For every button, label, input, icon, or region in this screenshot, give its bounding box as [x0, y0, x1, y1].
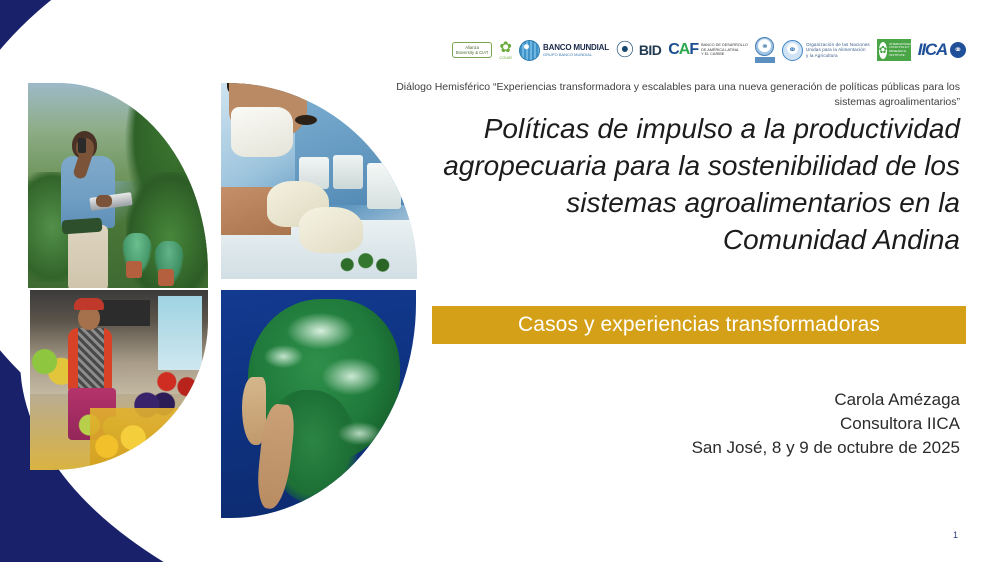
- slide-title: Políticas de impulso a la productividad …: [420, 111, 960, 259]
- caf-sublabel-line3: Y EL CARIBE: [701, 52, 748, 57]
- cgiar-leaf-icon: ✿: [499, 40, 512, 55]
- photo-layer-lab-jar-three: [367, 163, 401, 209]
- page-number: 1: [953, 530, 958, 540]
- logo-iica: IICA ⚭: [918, 35, 966, 65]
- author-block: Carola Amézaga Consultora IICA San José,…: [600, 388, 960, 460]
- ifpri-logo-icon: ✿ INTERNATIONAL FOOD POLICY RESEARCH INS…: [877, 39, 911, 61]
- author-role: Consultora IICA: [600, 412, 960, 436]
- alianza-logo-line2: Bioversity & CIAT: [456, 50, 489, 55]
- bid-swirl-icon: ⦿: [616, 41, 636, 59]
- photo-layer-market-doorway: [158, 296, 202, 370]
- fao-label: Organización de las Naciones Unidas para…: [806, 42, 870, 57]
- partner-logo-strip: Alianza Bioversity & CIAT ✿ CGIAR BANCO …: [432, 33, 966, 67]
- logo-bid: ⦿ BID: [616, 35, 661, 65]
- caf-label: CAF: [668, 41, 698, 59]
- logo-ifpri: ✿ INTERNATIONAL FOOD POLICY RESEARCH INS…: [877, 35, 911, 65]
- photo-market-vendor: [30, 290, 208, 470]
- photo-layer-farmer-hand: [96, 195, 112, 207]
- logo-fao: ⚭ Organización de las Naciones Unidas pa…: [782, 35, 870, 65]
- section-banner-label: Casos y experiencias transformadoras: [518, 313, 880, 337]
- author-name: Carola Amézaga: [600, 388, 960, 412]
- globe-icon: [519, 40, 540, 61]
- fao-emblem-icon: ⚭: [782, 40, 803, 61]
- logo-banco-mundial: BANCO MUNDIAL GRUPO BANCO MUNDIAL: [519, 35, 609, 65]
- section-banner: Casos y experiencias transformadoras: [432, 306, 966, 344]
- photo-layer-farmer-belt: [62, 218, 103, 235]
- alianza-logo-icon: Alianza Bioversity & CIAT: [452, 42, 493, 58]
- photo-layer-cloud-two: [322, 358, 381, 394]
- photo-layer-researcher-eye: [295, 115, 317, 125]
- cgiar-logo-label: CGIAR: [499, 55, 512, 60]
- ifpri-label: INTERNATIONAL FOOD POLICY RESEARCH INSTI…: [889, 43, 913, 58]
- ifpri-label-line4: INSTITUTE: [889, 54, 913, 58]
- presentation-slide: Alianza Bioversity & CIAT ✿ CGIAR BANCO …: [0, 0, 1000, 562]
- photo-layer-lab-jar-two: [333, 155, 363, 189]
- photo-layer-cloud-four: [338, 422, 381, 445]
- photo-layer-harvest-basket-one: [126, 261, 142, 278]
- bid-label: BID: [639, 42, 661, 58]
- banco-mundial-sublabel: GRUPO BANCO MUNDIAL: [543, 52, 609, 57]
- photo-layer-cloud-three: [264, 345, 303, 368]
- logo-cgiar: ✿ CGIAR: [499, 35, 512, 65]
- photo-layer-mobile-phone: [78, 138, 86, 153]
- photo-laboratory-researcher: [221, 83, 417, 279]
- photo-layer-citrus-fruit: [90, 408, 208, 470]
- banco-mundial-label: BANCO MUNDIAL: [543, 43, 609, 52]
- un-logo-bar: [755, 57, 775, 63]
- photo-layer-plant-samples: [325, 249, 399, 275]
- logo-caf: CAF BANCO DE DESARROLLO DE AMÉRICA LATIN…: [668, 35, 748, 65]
- photo-layer-farmer-trousers: [68, 225, 108, 288]
- ifpri-leaf-icon: ✿: [879, 42, 887, 59]
- logo-alianza-bioversity-ciat: Alianza Bioversity & CIAT: [452, 35, 493, 65]
- photo-layer-glove-two: [299, 207, 363, 253]
- photo-layer-vendor-sweater: [78, 328, 104, 390]
- photo-layer-harvest-basket-two: [158, 269, 174, 286]
- author-place-date: San José, 8 y 9 de octubre de 2025: [600, 436, 960, 460]
- iica-globe-icon: ⚭: [950, 42, 966, 58]
- photo-coffee-farmer-phone: [28, 83, 208, 288]
- caf-sublabel: BANCO DE DESARROLLO DE AMÉRICA LATINA Y …: [701, 43, 748, 57]
- logo-naciones-unidas: ⚭: [755, 35, 775, 65]
- fao-label-line2: Unidas para la Alimentación: [806, 47, 870, 52]
- event-subtitle: Diálogo Hemisférico “Experiencias transf…: [352, 80, 960, 110]
- iica-label: IICA: [918, 40, 947, 60]
- fao-label-line3: y la Agricultura: [806, 53, 870, 58]
- photo-layer-vendor-cap: [74, 298, 104, 310]
- caf-sublabel-line1: BANCO DE DESARROLLO: [701, 43, 748, 48]
- un-emblem-icon: ⚭: [755, 37, 774, 56]
- photo-layer-face-mask: [231, 107, 293, 157]
